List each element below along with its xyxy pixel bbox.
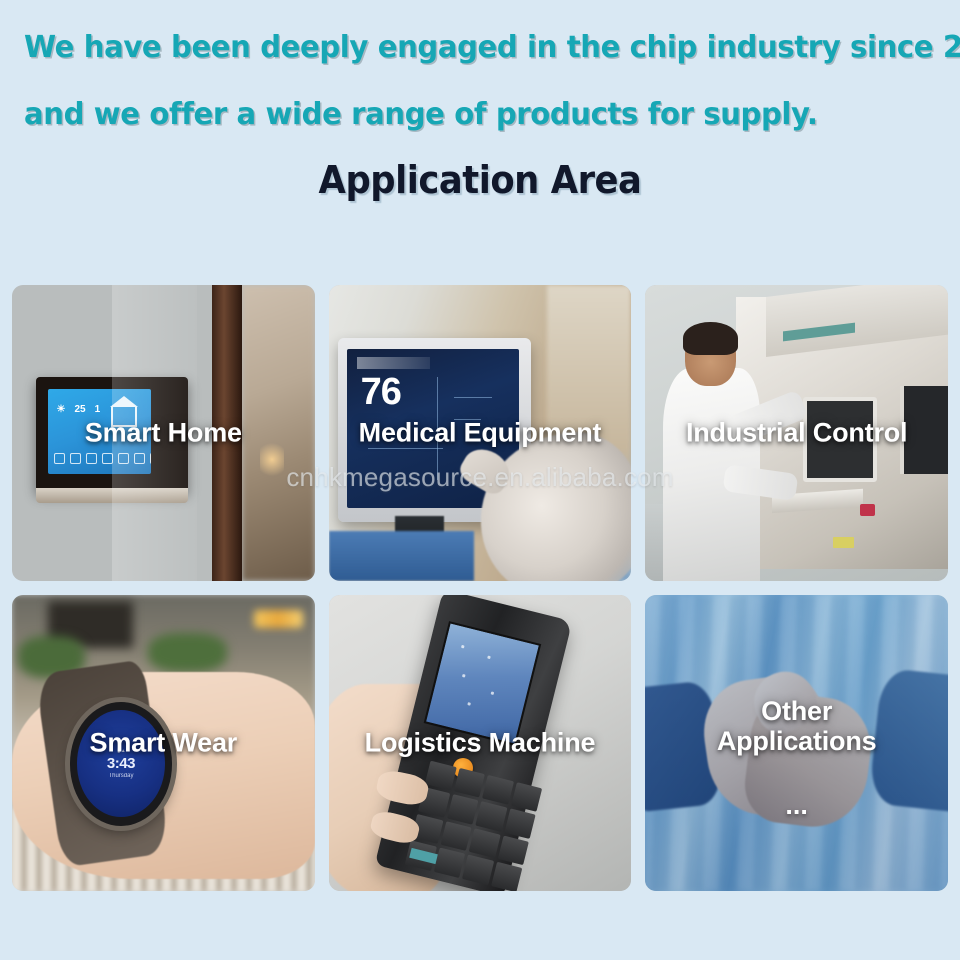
- tile-label-other-applications: Other Applications: [645, 696, 948, 756]
- surgical-gown: [329, 531, 474, 581]
- tile-industrial-control[interactable]: Industrial Control: [645, 285, 948, 581]
- pda-screen-icon-4: [490, 691, 494, 695]
- tile-label-medical-equipment: Medical Equipment: [329, 417, 632, 447]
- pda-key[interactable]: [440, 821, 472, 851]
- clock-value: 1: [95, 404, 101, 415]
- app-icon-lights: [54, 453, 65, 464]
- tile-medical-equipment[interactable]: 76 Medical Equipment: [329, 285, 632, 581]
- tile-label-industrial-control: Industrial Control: [645, 417, 948, 447]
- monitor-vital-value: 76: [361, 371, 401, 414]
- technician-hair: [683, 322, 737, 355]
- pda-screen-icon-5: [467, 702, 471, 706]
- headline-line-1: We have been deeply engaged in the chip …: [24, 30, 909, 65]
- pda-key[interactable]: [434, 847, 466, 877]
- sun-icon: ☀: [57, 404, 66, 415]
- pda-key[interactable]: [462, 854, 494, 884]
- background-hedge-right: [148, 633, 227, 671]
- tile-logistics-machine[interactable]: Logistics Machine: [329, 595, 632, 891]
- tile-label-other-ellipsis: ...: [645, 790, 948, 821]
- application-area-grid: ☀ 25 1 Smart Home: [12, 285, 948, 891]
- tile-label-logistics-machine: Logistics Machine: [329, 727, 632, 757]
- tile-label-smart-home: Smart Home: [12, 417, 315, 447]
- pda-key[interactable]: [469, 828, 501, 858]
- page-header: We have been deeply engaged in the chip …: [0, 0, 960, 240]
- app-icon-fan: [70, 453, 81, 464]
- watch-time: 3:43: [107, 755, 135, 772]
- pda-screen-icon-3: [461, 674, 465, 678]
- background-lights: [254, 610, 302, 628]
- tile-label-smart-wear: Smart Wear: [12, 727, 315, 757]
- yellow-label: [833, 537, 854, 549]
- pda-screen-icon-2: [486, 655, 490, 659]
- pda-screen-icon-1: [461, 645, 465, 649]
- watch-date: Thursday: [108, 773, 133, 779]
- pda-key[interactable]: [447, 794, 479, 824]
- tile-other-applications[interactable]: Other Applications ...: [645, 595, 948, 891]
- app-icon-security: [86, 453, 97, 464]
- tile-label-other-line2: Applications: [717, 726, 877, 756]
- page-title: Application Area: [34, 158, 927, 202]
- screen-status-row: ☀ 25 1: [57, 404, 101, 415]
- temperature-value: 25: [75, 404, 86, 415]
- tile-label-other-line1: Other: [761, 696, 832, 726]
- tile-smart-wear[interactable]: ▮ ▴ 3:43 Thursday Smart Wear: [12, 595, 315, 891]
- machine-hood: [766, 285, 948, 357]
- pda-key[interactable]: [476, 801, 508, 831]
- red-indicator: [860, 504, 875, 516]
- monitor-header-bar: [357, 357, 429, 370]
- waveform-line: [368, 448, 444, 449]
- headline-line-2: and we offer a wide range of products fo…: [24, 97, 909, 132]
- monitor-line-2: [454, 397, 492, 398]
- tile-smart-home[interactable]: ☀ 25 1 Smart Home: [12, 285, 315, 581]
